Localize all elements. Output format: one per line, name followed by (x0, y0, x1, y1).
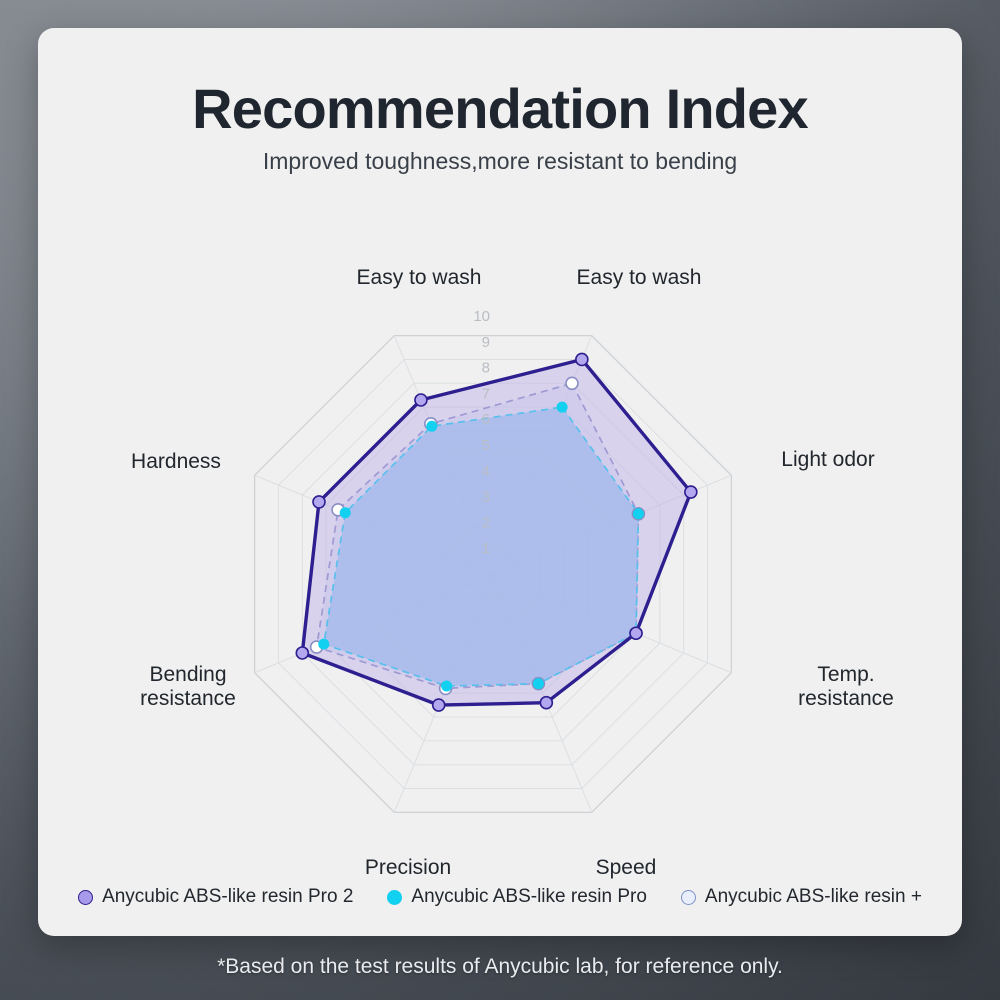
radar-point-s0-a7 (415, 394, 427, 406)
axis-label-bending-resistance: Bending resistance (98, 663, 278, 710)
chart-legend: Anycubic ABS-like resin Pro 2Anycubic AB… (38, 886, 962, 908)
radar-tick-1: 1 (482, 540, 490, 557)
radar-point-s0-a5 (296, 647, 308, 659)
radar-point-s0-a6 (313, 496, 325, 508)
radar-point-s1-a3 (533, 678, 544, 689)
axis-label-easy-to-wash-left: Easy to wash (314, 266, 524, 290)
axis-label-speed: Speed (536, 856, 716, 880)
radar-point-s0-a3 (540, 697, 552, 709)
radar-tick-4: 4 (482, 463, 490, 480)
axis-label-precision: Precision (318, 856, 498, 880)
radar-point-s1-a4 (441, 681, 452, 692)
radar-chart: 12345678910 Easy to washLight odorTemp. … (38, 178, 962, 878)
recommendation-card: Recommendation Index Improved toughness,… (38, 28, 962, 936)
radar-point-s1-a6 (340, 507, 351, 518)
radar-point-s0-a0 (576, 353, 588, 365)
radar-tick-5: 5 (482, 437, 490, 454)
legend-label-0: Anycubic ABS-like resin Pro 2 (102, 886, 353, 908)
radar-point-s0-a1 (685, 486, 697, 498)
radar-tick-9: 9 (482, 334, 490, 351)
page-title: Recommendation Index (38, 76, 962, 141)
legend-dot-pro2 (78, 890, 93, 905)
page-subtitle: Improved toughness,more resistant to ben… (38, 148, 962, 175)
radar-point-s1-a7 (426, 421, 437, 432)
radar-area-series-0 (302, 359, 691, 705)
legend-item-0[interactable]: Anycubic ABS-like resin Pro 2 (78, 886, 353, 908)
radar-tick-3: 3 (482, 489, 490, 506)
radar-tick-10: 10 (473, 308, 490, 325)
radar-point-s2-a0 (566, 377, 578, 389)
radar-tick-2: 2 (482, 514, 490, 531)
radar-point-s0-a2 (630, 627, 642, 639)
radar-point-s1-a5 (318, 639, 329, 650)
axis-label-easy-to-wash-right: Easy to wash (534, 266, 744, 290)
axis-label-light-odor: Light odor (738, 448, 918, 472)
legend-dot-pro (387, 890, 402, 905)
axis-label-temp-resistance: Temp. resistance (756, 663, 936, 710)
radar-tick-8: 8 (482, 360, 490, 377)
radar-point-s1-a0 (557, 402, 568, 413)
legend-item-2[interactable]: Anycubic ABS-like resin + (681, 886, 922, 908)
radar-point-s1-a1 (633, 508, 644, 519)
radar-point-s0-a4 (433, 699, 445, 711)
radar-series-areas (302, 359, 691, 705)
axis-label-hardness: Hardness (86, 450, 266, 474)
legend-item-1[interactable]: Anycubic ABS-like resin Pro (387, 886, 647, 908)
legend-dot-plus (681, 890, 696, 905)
footer-note: *Based on the test results of Anycubic l… (0, 955, 1000, 979)
radar-tick-6: 6 (482, 411, 490, 428)
radar-tick-7: 7 (482, 385, 490, 402)
legend-label-2: Anycubic ABS-like resin + (705, 886, 922, 908)
legend-label-1: Anycubic ABS-like resin Pro (411, 886, 647, 908)
